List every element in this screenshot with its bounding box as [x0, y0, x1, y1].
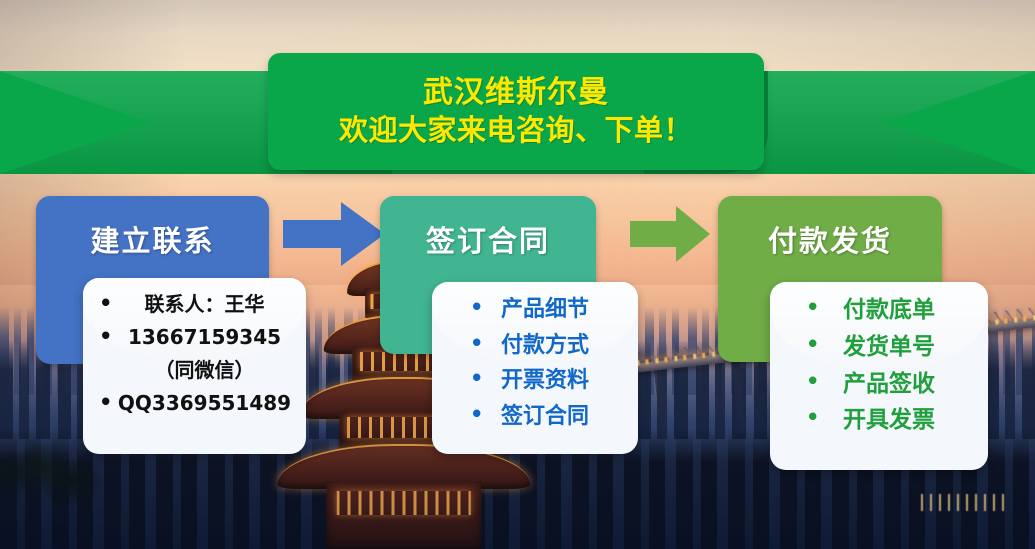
step-card-contract[interactable]: 签订合同 产品细节 付款方式 开票资料 签订合同 — [380, 196, 645, 456]
banner-subtitle: 欢迎大家来电咨询、下单！ — [339, 114, 693, 147]
list-item: 发货单号 — [780, 333, 978, 362]
banner-panel: 武汉维斯尔曼 欢迎大家来电咨询、下单！ — [268, 53, 764, 170]
list-item: 产品细节 — [442, 296, 628, 324]
poster-canvas: 武汉维斯尔曼 欢迎大家来电咨询、下单！ 建立联系 联系人：王华 13667159… — [0, 0, 1035, 549]
step-body-payment: 付款底单 发货单号 产品签收 开具发票 — [770, 282, 988, 470]
step-header-label: 签订合同 — [426, 196, 550, 260]
list-item: QQ3369551489 — [93, 391, 296, 416]
step-body-contact: 联系人：王华 13667159345 （同微信） QQ3369551489 — [83, 278, 306, 454]
step-header-label: 付款发货 — [768, 196, 892, 260]
step-item-list-payment: 付款底单 发货单号 产品签收 开具发票 — [780, 296, 978, 435]
step-body-contract: 产品细节 付款方式 开票资料 签订合同 — [432, 282, 638, 454]
list-item: 付款方式 — [442, 332, 628, 360]
list-item: 产品签收 — [780, 370, 978, 399]
step-item-list-contract: 产品细节 付款方式 开票资料 签订合同 — [442, 296, 628, 430]
list-item: 联系人：王华 — [93, 292, 296, 317]
step-header-label: 建立联系 — [90, 196, 214, 260]
company-name: 武汉维斯尔曼 — [423, 76, 609, 110]
step-card-contact[interactable]: 建立联系 联系人：王华 13667159345 （同微信） QQ33695514… — [36, 196, 306, 458]
list-item: （同微信） — [93, 358, 296, 383]
list-item: 开票资料 — [442, 367, 628, 395]
list-item: 开具发票 — [780, 406, 978, 435]
step-item-list-contact: 联系人：王华 13667159345 （同微信） QQ3369551489 — [93, 292, 296, 416]
list-item: 付款底单 — [780, 296, 978, 325]
list-item: 13667159345 — [93, 325, 296, 350]
list-item: 签订合同 — [442, 403, 628, 431]
step-card-payment[interactable]: 付款发货 付款底单 发货单号 产品签收 开具发票 — [718, 196, 993, 472]
